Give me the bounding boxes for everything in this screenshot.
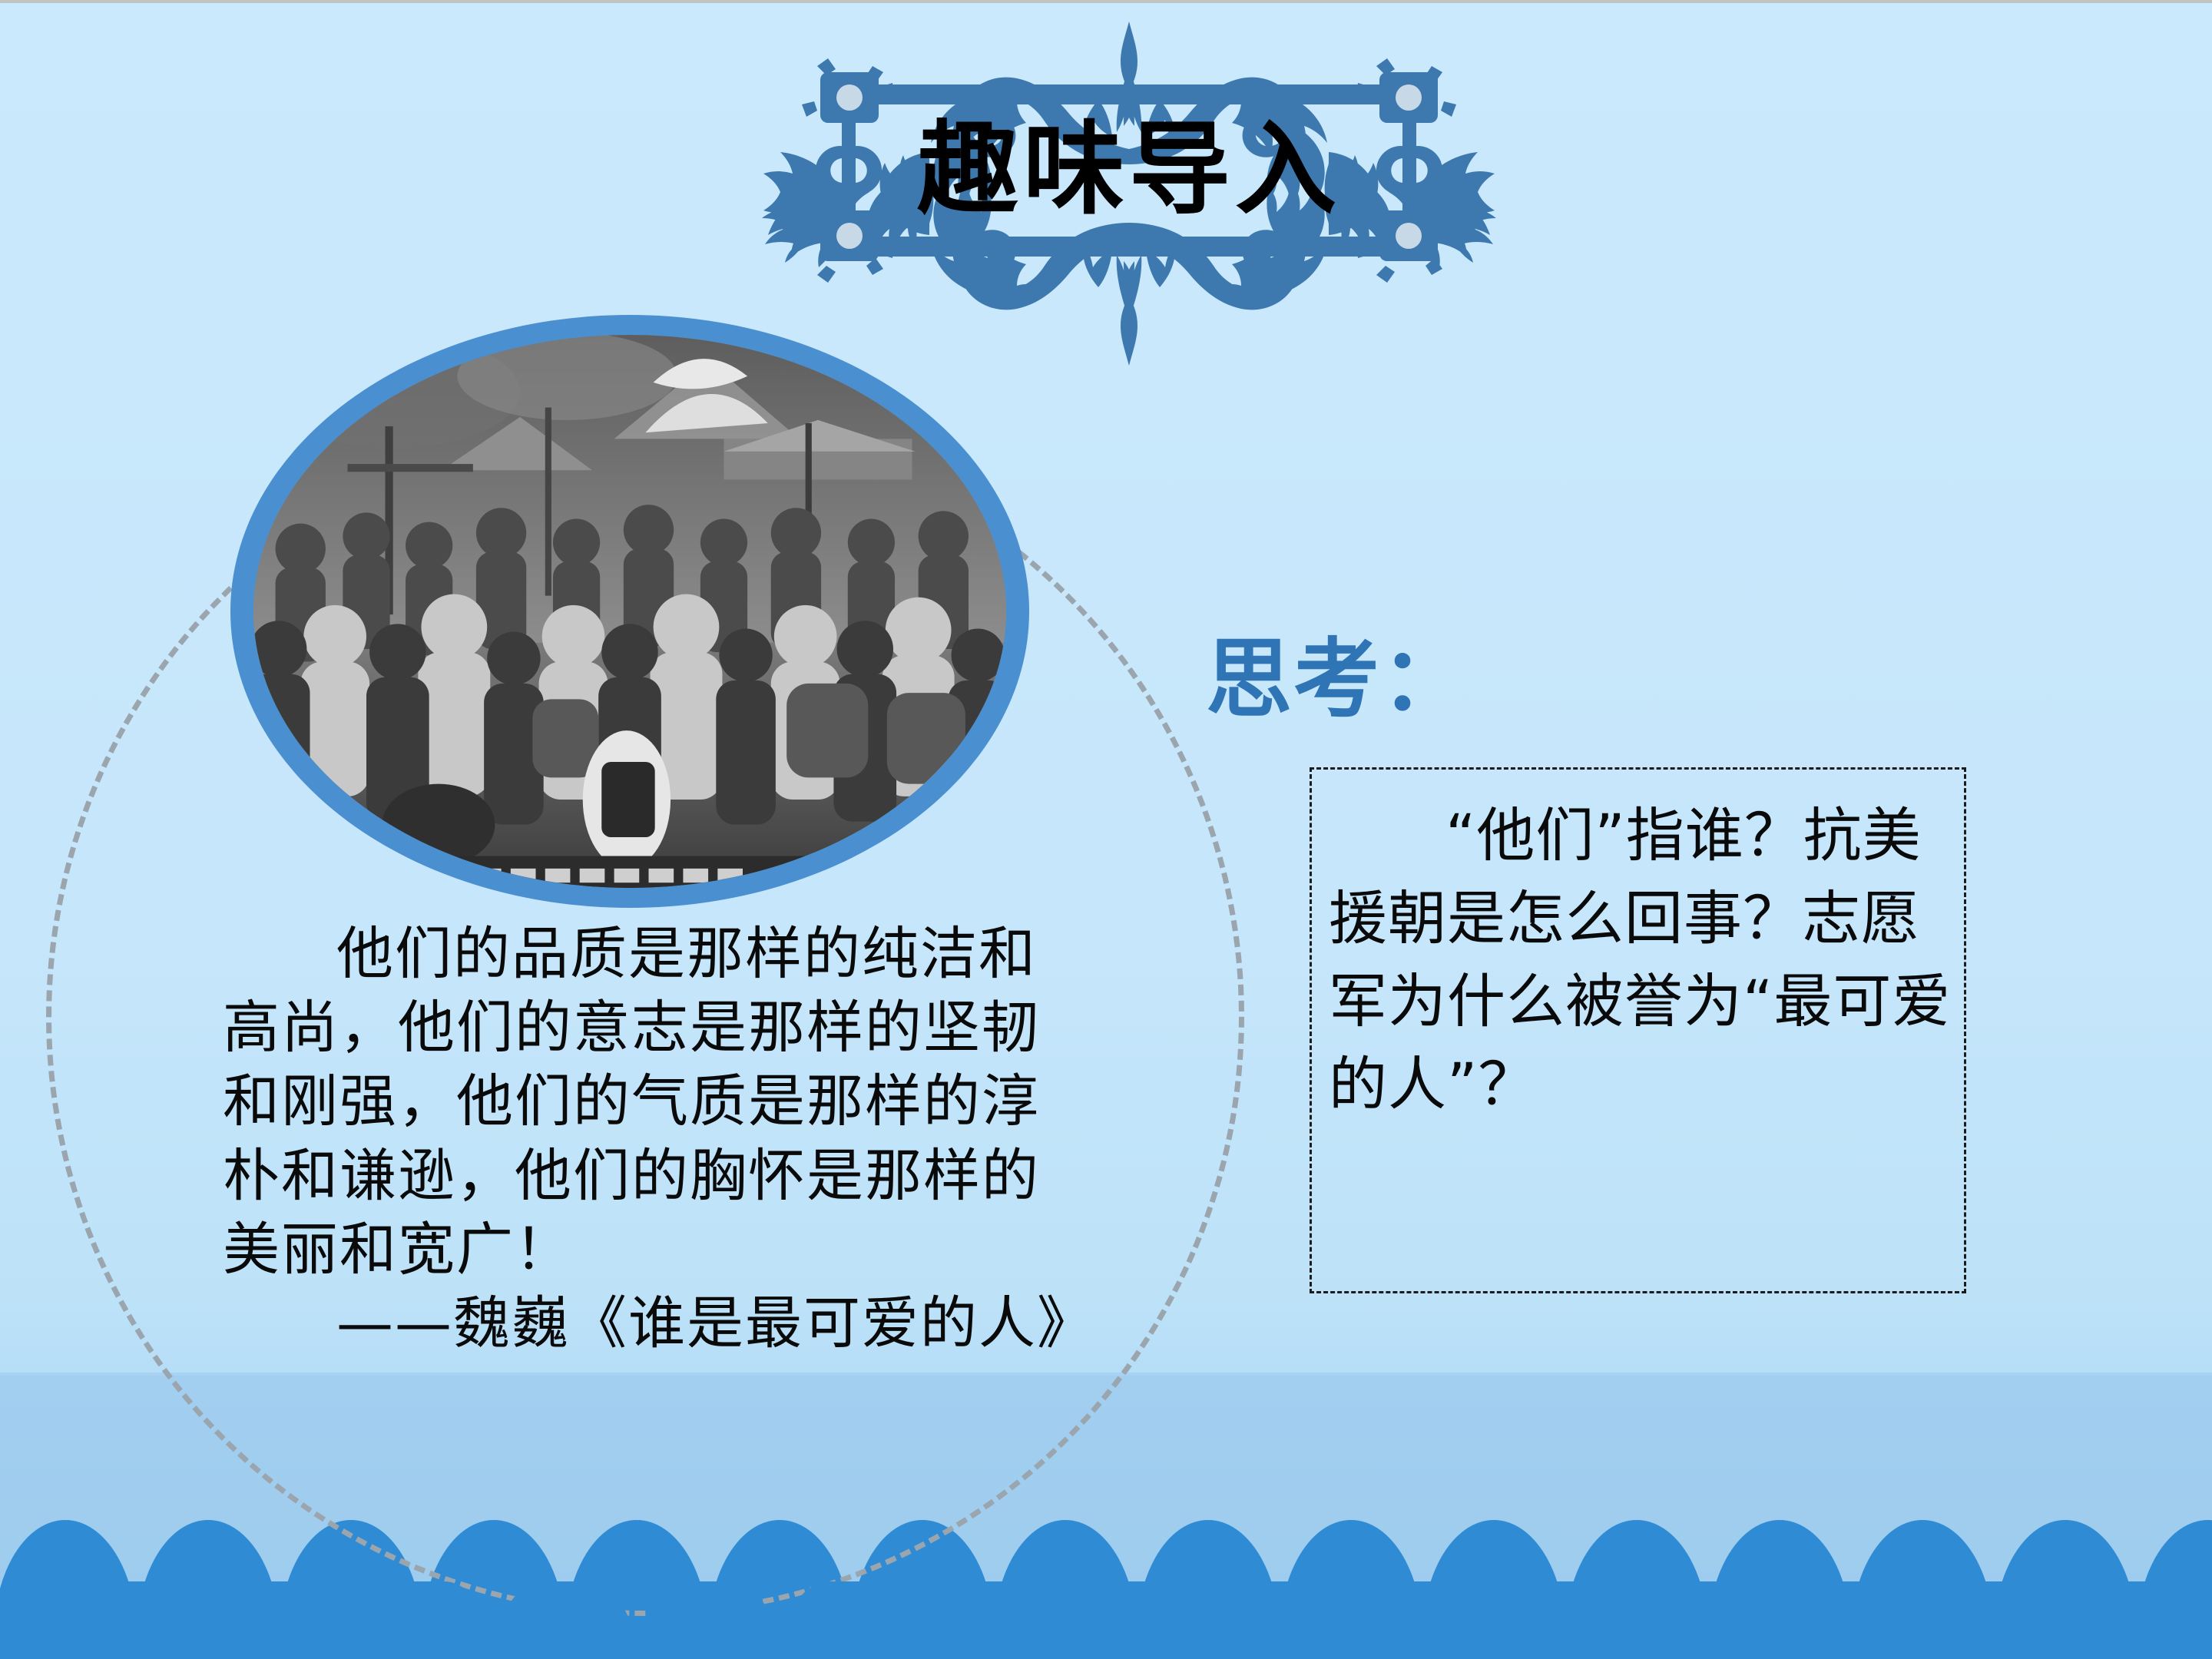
- arch-shape: [1065, 1581, 1208, 1659]
- arch-shape: [1780, 1581, 1922, 1659]
- arch-shape: [1637, 1581, 1780, 1659]
- arch-shape: [351, 1581, 494, 1659]
- arch-shape: [2065, 1581, 2208, 1659]
- arch-shape: [637, 1581, 780, 1659]
- quote-block: 他们的品质是那样的纯洁和高尚，他们的意志是那样的坚韧和刚强，他们的气质是那样的淳…: [223, 917, 1091, 1360]
- bottom-arch-row-front: [65, 1581, 2212, 1659]
- question-text: “他们”指谁？抗美援朝是怎么回事？志愿军为什么被誉为“最可爱的人”？: [1329, 794, 1959, 1126]
- arch-shape: [1208, 1581, 1351, 1659]
- arch-shape: [2208, 1581, 2212, 1659]
- quote-body: 他们的品质是那样的纯洁和高尚，他们的意志是那样的坚韧和刚强，他们的气质是那样的淳…: [223, 917, 1091, 1286]
- arch-shape: [494, 1581, 637, 1659]
- arch-shape: [208, 1581, 351, 1659]
- arch-shape: [65, 1581, 208, 1659]
- historical-crowd-photo: [253, 335, 1006, 888]
- arch-shape: [1922, 1581, 2065, 1659]
- arch-shape: [780, 1581, 922, 1659]
- think-heading: 思考：: [1206, 610, 1469, 734]
- arch-shape: [1351, 1581, 1494, 1659]
- arch-shape: [1494, 1581, 1637, 1659]
- page-title: 趣味导入: [737, 99, 1521, 222]
- arch-shape: [922, 1581, 1065, 1659]
- slide-canvas: 趣味导入: [0, 0, 2212, 1659]
- oval-photo: [230, 315, 1029, 908]
- quote-attribution: ——魏巍《谁是最可爱的人》: [223, 1286, 1091, 1360]
